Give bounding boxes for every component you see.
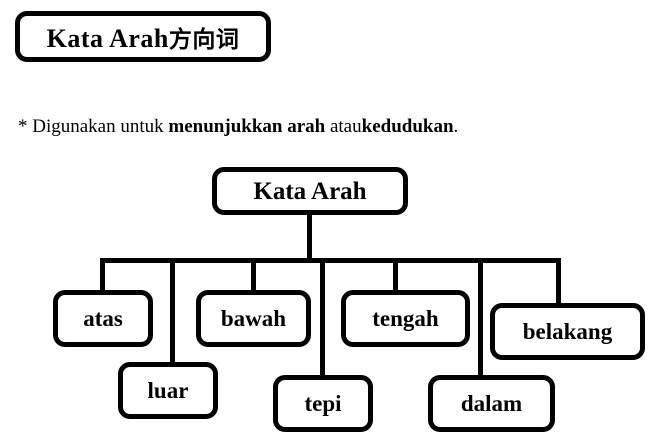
description-bold-2: arah	[287, 116, 325, 137]
tree-node-tengah[interactable]: tengah	[341, 290, 470, 347]
description-line: * Digunakan untuk menunjukkan arah atauk…	[18, 116, 458, 138]
tree-node-luar-label: luar	[148, 379, 189, 402]
connector-root-stem	[307, 213, 312, 263]
tree-node-atas-label: atas	[83, 307, 123, 330]
title-box: Kata Arah方向词	[15, 11, 271, 62]
title-malay-text: Kata Arah	[47, 24, 169, 53]
bullet-marker: *	[18, 116, 28, 137]
tree-node-tepi[interactable]: tepi	[273, 375, 373, 432]
connector-drop-tepi	[320, 258, 325, 378]
connector-drop-atas	[100, 258, 105, 292]
description-bold-1: menunjukkan	[168, 116, 282, 137]
description-period: .	[454, 116, 459, 137]
page-canvas: Kata Arah方向词 * Digunakan untuk menunjukk…	[0, 0, 661, 442]
tree-node-tengah-label: tengah	[372, 307, 438, 330]
description-bold-3: kedudukan	[362, 116, 454, 137]
tree-node-dalam[interactable]: dalam	[428, 375, 555, 432]
tree-node-bawah[interactable]: bawah	[196, 290, 311, 347]
tree-node-dalam-label: dalam	[461, 392, 522, 415]
connector-drop-tengah	[393, 258, 398, 292]
connector-drop-dalam	[478, 258, 483, 378]
tree-node-belakang[interactable]: belakang	[490, 303, 645, 360]
connector-drop-luar	[170, 258, 175, 365]
tree-node-atas[interactable]: atas	[53, 290, 153, 347]
connector-drop-belakang	[556, 258, 561, 306]
tree-node-bawah-label: bawah	[221, 307, 286, 330]
tree-node-belakang-label: belakang	[523, 320, 612, 343]
tree-node-tepi-label: tepi	[304, 392, 341, 415]
tree-node-root[interactable]: Kata Arah	[212, 167, 408, 215]
title-chinese-text: 方向词	[169, 27, 240, 53]
tree-node-root-label: Kata Arah	[253, 179, 366, 204]
connector-drop-bawah	[251, 258, 256, 292]
description-part-1: Digunakan untuk	[32, 116, 163, 137]
page-title: Kata Arah方向词	[47, 20, 240, 54]
tree-node-luar[interactable]: luar	[118, 362, 218, 419]
description-part-2: atau	[330, 116, 362, 137]
